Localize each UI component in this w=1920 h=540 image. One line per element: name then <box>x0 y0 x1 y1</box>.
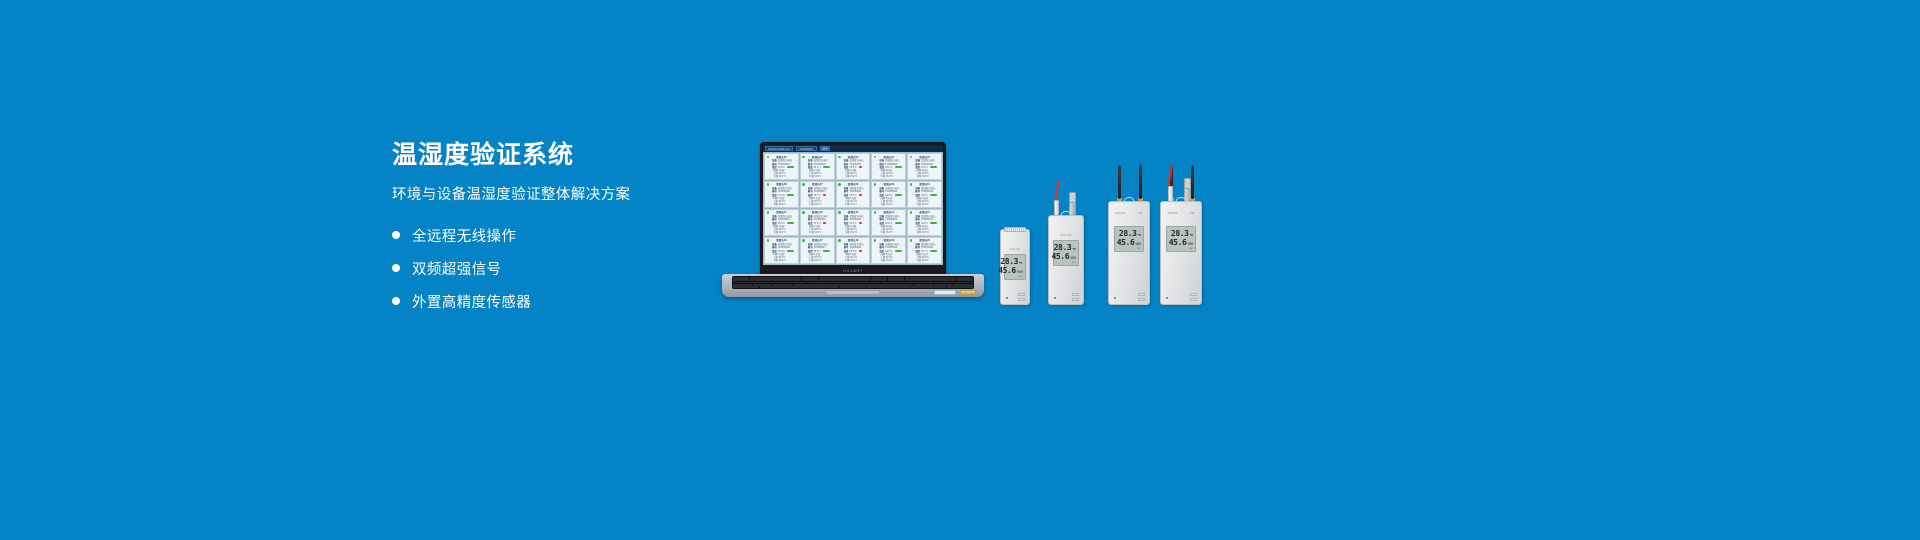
lcd-humidity-value: 45.6 <box>1117 238 1135 247</box>
feature-label: 双频超强信号 <box>412 258 501 279</box>
keyboard-key[interactable] <box>786 286 812 288</box>
monitor-card[interactable]: 监测点15设备温湿度记录仪编号T20250015温度24.0℃间隔 1分钟上限 … <box>907 209 942 236</box>
lcd-humidity: 45.6%RH <box>1117 238 1141 247</box>
device-port-label: ENCON <box>1168 212 1178 215</box>
device-lcd-display: 28.3℃45.6%RHREC <box>1053 240 1079 266</box>
monitor-card[interactable]: 监测点19设备温湿度记录仪编号T20250019温度24.6℃间隔 1分钟上限 … <box>871 237 906 264</box>
field-lower-limit: 下限 15.0℃ <box>879 175 903 178</box>
keyboard-key[interactable] <box>920 286 946 288</box>
monitor-card-fields: 设备温湿度记录仪编号T20250004温度23.2℃间隔 1分钟上限 30.0℃… <box>874 159 903 178</box>
device-button-group <box>1190 293 1197 302</box>
hanging-hook-icon <box>1176 197 1187 204</box>
monitor-card[interactable]: 监测点05设备温湿度记录仪编号T20250005温度22.9℃间隔 1分钟上限 … <box>907 153 942 180</box>
status-badge <box>787 166 794 168</box>
vent-grille-icon <box>1004 227 1026 232</box>
sensor-device: ENCON28.3℃45.6%RHREC <box>1048 215 1084 305</box>
monitor-card-fields: 设备温湿度记录仪编号T20250014温度23.8℃间隔 1分钟上限 30.0℃… <box>874 215 903 234</box>
page-subtitle: 环境与设备温湿度验证整体解决方案 <box>392 186 722 205</box>
status-led-icon <box>802 239 805 242</box>
field-lower-limit: 下限 15.0℃ <box>808 231 832 234</box>
status-led-icon <box>767 156 770 159</box>
status-led-icon <box>838 211 841 214</box>
laptop-screen: 温湿度验证系统 V2.0 实时数据监控 报警 监测点01设备温湿度记录仪编号T2… <box>763 145 943 265</box>
status-badge <box>895 250 902 252</box>
laptop-trackpad[interactable] <box>826 290 880 295</box>
status-led-icon <box>767 211 770 214</box>
monitor-card-title: 监测点20 <box>910 239 939 242</box>
lcd-status-text: REC <box>1056 262 1076 264</box>
bullet-dot-icon <box>392 264 400 272</box>
device-button-group <box>1072 293 1079 302</box>
monitor-card-fields: 设备温湿度记录仪编号T20250015温度24.0℃间隔 1分钟上限 30.0℃… <box>910 215 939 234</box>
lcd-temperature: 28.3℃ <box>1056 243 1076 252</box>
lcd-humidity-unit: %RH <box>1070 256 1076 260</box>
monitor-card-title: 监测点15 <box>910 211 939 214</box>
monitor-card-title: 监测点16 <box>767 239 796 242</box>
list-item: 外置高精度传感器 <box>392 291 722 312</box>
monitor-card[interactable]: 监测点08设备温湿度记录仪编号T20250008温度23.5℃间隔 1分钟上限 … <box>836 181 871 208</box>
lcd-temperature: 28.3℃ <box>1117 229 1141 238</box>
keyboard-row <box>733 286 973 288</box>
device-body: ENCON28.3℃45.6%RHREC <box>1000 229 1030 305</box>
monitor-card-fields: 设备温湿度记录仪编号T20250020温度23.7℃间隔 1分钟上限 30.0℃… <box>910 243 939 262</box>
status-led-icon <box>767 239 770 242</box>
monitor-card-title: 监测点02 <box>803 156 832 159</box>
laptop-keyboard[interactable] <box>732 276 974 289</box>
keyboard-key[interactable] <box>867 286 893 288</box>
probe-sensor-mesh <box>1069 192 1076 203</box>
monitor-card-fields: 设备温湿度记录仪编号T20250008温度23.5℃间隔 1分钟上限 30.0℃… <box>839 187 868 206</box>
device-brand-label: ENCON <box>1061 234 1072 237</box>
device-port-labels: ENCONHB <box>1161 212 1201 215</box>
field-lower-limit: 下限 15.0℃ <box>915 175 939 178</box>
monitor-card[interactable]: 监测点10设备温湿度记录仪编号T20250010温度23.0℃间隔 1分钟上限 … <box>907 181 942 208</box>
laptop-illustration: 温湿度验证系统 V2.0 实时数据监控 报警 监测点01设备温湿度记录仪编号T2… <box>722 142 984 297</box>
monitor-card-fields: 设备温湿度记录仪编号T20250019温度24.6℃间隔 1分钟上限 30.0℃… <box>874 243 903 262</box>
laptop-brand-label: HUAWEI <box>843 269 863 273</box>
keyboard-key[interactable] <box>760 286 786 288</box>
device-button-up[interactable] <box>1138 293 1145 297</box>
monitor-card[interactable]: 监测点01设备温湿度记录仪编号T20250001温度23.6℃间隔 1分钟上限 … <box>764 153 799 180</box>
device-body: ENCONHB28.3℃45.6%RHREC <box>1108 201 1150 305</box>
keyboard-key[interactable] <box>733 286 759 288</box>
hanging-hook-icon <box>1124 197 1135 204</box>
monitor-card-fields: 设备温湿度记录仪编号T20250009温度24.8℃间隔 1分钟上限 30.0℃… <box>874 187 903 206</box>
lcd-temperature-value: 28.3 <box>1000 257 1018 266</box>
device-lcd-display: 28.3℃45.6%RHREC <box>1114 226 1144 252</box>
field-lower-limit: 下限 15.0℃ <box>844 175 868 178</box>
feature-label: 全远程无线操作 <box>412 225 516 246</box>
monitor-card-title: 监测点03 <box>839 156 868 159</box>
monitor-card-fields: 设备温湿度记录仪编号T20250006温度24.4℃间隔 1分钟上限 30.0℃… <box>767 187 796 206</box>
lcd-status-text: REC <box>1169 248 1193 250</box>
field-lower-limit: 下限 15.0℃ <box>772 203 796 206</box>
status-badge <box>895 194 902 196</box>
device-button-up[interactable] <box>1018 293 1025 297</box>
lcd-humidity-value: 45.6 <box>1051 252 1069 261</box>
field-lower-limit: 下限 15.0℃ <box>772 259 796 262</box>
probe-connector <box>1168 186 1173 202</box>
field-lower-limit: 下限 15.0℃ <box>879 259 903 262</box>
probe-wire <box>1054 179 1059 201</box>
sensor-device: ENCON28.3℃45.6%RHREC <box>1000 229 1030 305</box>
monitor-card-title: 监测点09 <box>874 183 903 186</box>
status-badge <box>930 222 937 224</box>
status-led-icon <box>802 211 805 214</box>
status-badge <box>895 166 902 168</box>
lcd-status-text: REC <box>1117 248 1141 250</box>
status-led-icon <box>802 183 805 186</box>
status-badge <box>823 166 830 168</box>
bullet-dot-icon <box>392 297 400 305</box>
keyboard-key[interactable] <box>813 286 839 288</box>
status-badge <box>787 250 794 252</box>
feature-label: 外置高精度传感器 <box>412 291 531 312</box>
monitor-card[interactable]: 监测点09设备温湿度记录仪编号T20250009温度24.8℃间隔 1分钟上限 … <box>871 181 906 208</box>
device-port-label: HB <box>1139 212 1143 215</box>
monitor-card-fields: 设备温湿度记录仪编号T20250002温度24.1℃间隔 1分钟上限 30.0℃… <box>803 159 832 178</box>
sensor-device: ENCONHB28.3℃45.6%RHREC <box>1108 201 1150 305</box>
probe-connector <box>1054 200 1059 216</box>
keyboard-key[interactable] <box>947 286 973 288</box>
spec-sticker <box>934 290 956 295</box>
lcd-temperature: 28.3℃ <box>1007 257 1022 266</box>
list-item: 全远程无线操作 <box>392 225 722 246</box>
list-item: 双频超强信号 <box>392 258 722 279</box>
lcd-temperature-value: 28.3 <box>1171 229 1189 238</box>
page-title: 温湿度验证系统 <box>392 140 722 170</box>
monitor-card-fields: 设备温湿度记录仪编号T20250001温度23.6℃间隔 1分钟上限 30.0℃… <box>767 159 796 178</box>
monitor-card-title: 监测点18 <box>839 239 868 242</box>
laptop-base <box>722 274 984 297</box>
device-button-down[interactable] <box>1072 298 1079 302</box>
status-led-icon <box>910 211 913 214</box>
lcd-temperature-unit: ℃ <box>1072 247 1076 251</box>
monitor-card-fields: 设备温湿度记录仪编号T20250017温度25.0℃间隔 1分钟上限 30.0℃… <box>803 243 832 262</box>
monitor-card[interactable]: 监测点06设备温湿度记录仪编号T20250006温度24.4℃间隔 1分钟上限 … <box>764 181 799 208</box>
keyboard-key[interactable] <box>893 286 919 288</box>
field-lower-limit: 下限 15.0℃ <box>879 203 903 206</box>
lcd-humidity-value: 45.6 <box>1169 238 1187 247</box>
lcd-temperature-value: 28.3 <box>1119 229 1137 238</box>
lcd-temperature: 28.3℃ <box>1169 229 1193 238</box>
monitor-card-title: 监测点06 <box>767 183 796 186</box>
bullet-dot-icon <box>392 231 400 239</box>
field-lower-limit: 下限 15.0℃ <box>915 203 939 206</box>
status-badge <box>787 222 794 224</box>
lcd-humidity-value: 45.6 <box>998 266 1016 275</box>
monitor-card-fields: 设备温湿度记录仪编号T20250003温度25.8℃间隔 1分钟上限 30.0℃… <box>839 159 868 178</box>
lcd-humidity-unit: %RH <box>1135 242 1141 246</box>
monitor-card[interactable]: 监测点20设备温湿度记录仪编号T20250020温度23.7℃间隔 1分钟上限 … <box>907 237 942 264</box>
status-badge <box>930 250 937 252</box>
lcd-humidity-unit: %RH <box>1187 242 1193 246</box>
status-led-icon <box>838 183 841 186</box>
device-indicator-led <box>1006 297 1008 299</box>
lcd-humidity: 45.6%RH <box>1169 238 1193 247</box>
sensor-device-row: ENCON28.3℃45.6%RHRECENCON28.3℃45.6%RHREC… <box>1000 180 1210 305</box>
monitor-card-title: 监测点11 <box>767 211 796 214</box>
monitor-card-fields: 设备温湿度记录仪编号T20250011温度25.3℃间隔 1分钟上限 30.0℃… <box>767 215 796 234</box>
monitor-card[interactable]: 监测点17设备温湿度记录仪编号T20250017温度25.0℃间隔 1分钟上限 … <box>800 237 835 264</box>
monitor-card-title: 监测点05 <box>910 156 939 159</box>
lcd-humidity: 45.6%RH <box>1007 266 1022 275</box>
monitor-card[interactable]: 监测点11设备温湿度记录仪编号T20250011温度25.3℃间隔 1分钟上限 … <box>764 209 799 236</box>
monitor-card[interactable]: 监测点12设备温湿度记录仪编号T20250012温度27.1℃间隔 1分钟上限 … <box>800 209 835 236</box>
field-lower-limit: 下限 15.0℃ <box>808 203 832 206</box>
monitor-card-title: 监测点10 <box>910 183 939 186</box>
badge-sticker <box>960 290 976 295</box>
antenna-icon <box>1139 165 1143 199</box>
monitor-card-grid: 监测点01设备温湿度记录仪编号T20250001温度23.6℃间隔 1分钟上限 … <box>763 152 943 265</box>
device-lcd-display: 28.3℃45.6%RHREC <box>1166 226 1196 252</box>
tab-alarm[interactable]: 报警 <box>820 146 831 151</box>
sensor-device: ENCONHB28.3℃45.6%RHREC <box>1160 201 1202 305</box>
monitor-card-fields: 设备温湿度记录仪编号T20250007温度26.7℃间隔 1分钟上限 30.0℃… <box>803 187 832 206</box>
monitor-card[interactable]: 监测点04设备温湿度记录仪编号T20250004温度23.2℃间隔 1分钟上限 … <box>871 153 906 180</box>
device-button-down[interactable] <box>1190 298 1197 302</box>
field-lower-limit: 下限 15.0℃ <box>772 175 796 178</box>
laptop-lid: 温湿度验证系统 V2.0 实时数据监控 报警 监测点01设备温湿度记录仪编号T2… <box>760 142 946 276</box>
lcd-humidity-unit: %RH <box>1017 270 1023 274</box>
status-badge <box>787 194 794 196</box>
status-led-icon <box>838 239 841 242</box>
monitor-card[interactable]: 监测点07设备温湿度记录仪编号T20250007温度26.7℃间隔 1分钟上限 … <box>800 181 835 208</box>
lcd-temperature-value: 28.3 <box>1054 243 1072 252</box>
field-lower-limit: 下限 15.0℃ <box>879 231 903 234</box>
monitor-card-fields: 设备温湿度记录仪编号T20250013温度26.2℃间隔 1分钟上限 30.0℃… <box>839 215 868 234</box>
keyboard-key[interactable] <box>840 286 866 288</box>
field-lower-limit: 下限 15.0℃ <box>808 259 832 262</box>
monitor-card-fields: 设备温湿度记录仪编号T20250018温度26.9℃间隔 1分钟上限 30.0℃… <box>839 243 868 262</box>
monitor-card[interactable]: 监测点13设备温湿度记录仪编号T20250013温度26.2℃间隔 1分钟上限 … <box>836 209 871 236</box>
device-port-label: HB <box>1191 212 1195 215</box>
lcd-temperature-unit: ℃ <box>1138 233 1142 237</box>
device-lcd-display: 28.3℃45.6%RHREC <box>1004 254 1025 280</box>
feature-list: 全远程无线操作 双频超强信号 外置高精度传感器 <box>392 225 722 312</box>
antenna-icon <box>1191 165 1195 199</box>
monitor-card-title: 监测点14 <box>874 211 903 214</box>
hanging-hook-icon <box>1061 211 1072 218</box>
status-led-icon <box>838 156 841 159</box>
lcd-status-text: REC <box>1007 276 1022 278</box>
field-lower-limit: 下限 15.0℃ <box>915 231 939 234</box>
status-led-icon <box>767 183 770 186</box>
monitor-card-fields: 设备温湿度记录仪编号T20250005温度22.9℃间隔 1分钟上限 30.0℃… <box>910 159 939 178</box>
device-body: ENCONHB28.3℃45.6%RHREC <box>1160 201 1202 305</box>
antenna-icon <box>1118 165 1122 199</box>
device-button-down[interactable] <box>1138 298 1145 302</box>
monitor-card-title: 监测点13 <box>839 211 868 214</box>
field-lower-limit: 下限 15.0℃ <box>844 231 868 234</box>
field-lower-limit: 下限 15.0℃ <box>915 259 939 262</box>
status-led-icon <box>802 156 805 159</box>
monitor-card-title: 监测点12 <box>803 211 832 214</box>
monitor-card-title: 监测点17 <box>803 239 832 242</box>
device-indicator-led <box>1114 297 1116 299</box>
device-brand-label: ENCON <box>1010 248 1021 251</box>
device-port-labels: ENCONHB <box>1109 212 1149 215</box>
monitor-card[interactable]: 监测点03设备温湿度记录仪编号T20250003温度25.8℃间隔 1分钟上限 … <box>836 153 871 180</box>
monitor-card-title: 监测点07 <box>803 183 832 186</box>
device-indicator-led <box>1054 297 1056 299</box>
device-indicator-led <box>1166 297 1168 299</box>
field-lower-limit: 下限 15.0℃ <box>844 203 868 206</box>
status-badge <box>823 250 830 252</box>
field-lower-limit: 下限 15.0℃ <box>844 259 868 262</box>
device-button-group <box>1018 293 1025 302</box>
monitor-card[interactable]: 监测点16设备温湿度记录仪编号T20250016温度23.4℃间隔 1分钟上限 … <box>764 237 799 264</box>
monitor-card-fields: 设备温湿度记录仪编号T20250012温度27.1℃间隔 1分钟上限 30.0℃… <box>803 215 832 234</box>
status-badge <box>895 222 902 224</box>
monitor-card[interactable]: 监测点02设备温湿度记录仪编号T20250002温度24.1℃间隔 1分钟上限 … <box>800 153 835 180</box>
monitor-card[interactable]: 监测点18设备温湿度记录仪编号T20250018温度26.9℃间隔 1分钟上限 … <box>836 237 871 264</box>
device-button-down[interactable] <box>1018 298 1025 302</box>
laptop-palmrest <box>732 289 974 296</box>
lcd-temperature-unit: ℃ <box>1190 233 1194 237</box>
device-body: ENCON28.3℃45.6%RHREC <box>1048 215 1084 305</box>
status-badge <box>930 194 937 196</box>
monitor-card[interactable]: 监测点14设备温湿度记录仪编号T20250014温度23.8℃间隔 1分钟上限 … <box>871 209 906 236</box>
monitor-card-title: 监测点01 <box>767 156 796 159</box>
monitor-card-fields: 设备温湿度记录仪编号T20250016温度23.4℃间隔 1分钟上限 30.0℃… <box>767 243 796 262</box>
monitor-card-title: 监测点08 <box>839 183 868 186</box>
status-led-icon <box>910 239 913 242</box>
monitor-card-fields: 设备温湿度记录仪编号T20250010温度23.0℃间隔 1分钟上限 30.0℃… <box>910 187 939 206</box>
monitor-card-title: 监测点19 <box>874 239 903 242</box>
banner-copy: 温湿度验证系统 环境与设备温湿度验证整体解决方案 全远程无线操作 双频超强信号 … <box>392 140 722 324</box>
tab-system[interactable]: 温湿度验证系统 V2.0 <box>765 146 793 151</box>
product-banner: 温湿度验证系统 环境与设备温湿度验证整体解决方案 全远程无线操作 双频超强信号 … <box>0 0 1920 540</box>
field-lower-limit: 下限 15.0℃ <box>808 175 832 178</box>
device-button-up[interactable] <box>1190 293 1197 297</box>
field-lower-limit: 下限 15.0℃ <box>772 231 796 234</box>
tab-realtime[interactable]: 实时数据监控 <box>796 146 816 151</box>
app-topbar: 温湿度验证系统 V2.0 实时数据监控 报警 <box>763 145 943 152</box>
lcd-humidity: 45.6%RH <box>1056 252 1076 261</box>
device-port-label: ENCON <box>1116 212 1126 215</box>
monitor-card-title: 监测点04 <box>874 156 903 159</box>
device-button-group <box>1138 293 1145 302</box>
probe-sensor-mesh <box>1184 178 1191 189</box>
lcd-temperature-unit: ℃ <box>1019 261 1023 265</box>
device-button-up[interactable] <box>1072 293 1079 297</box>
